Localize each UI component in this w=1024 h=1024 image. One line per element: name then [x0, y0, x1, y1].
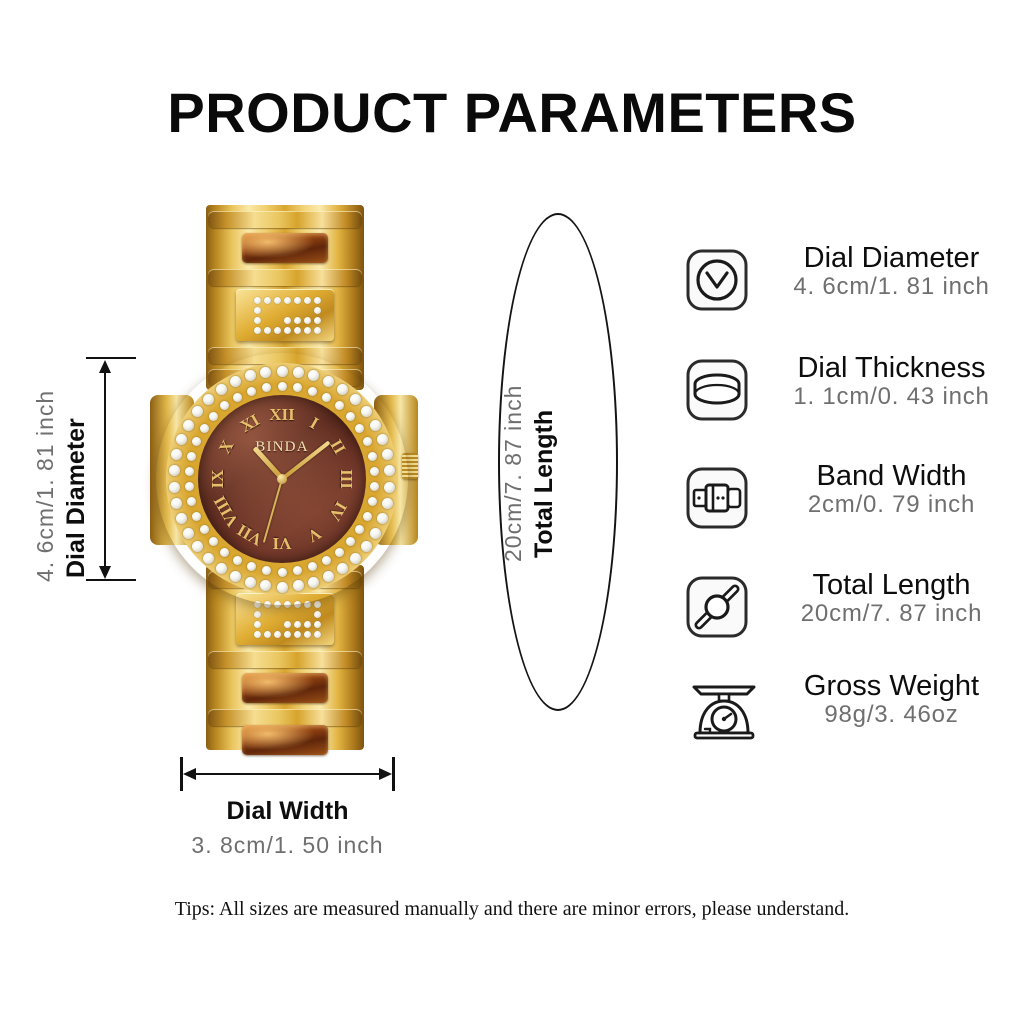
dim-dial-diameter-value: 4. 6cm/1. 81 inch: [32, 390, 59, 582]
bracelet-crystal: [304, 327, 311, 334]
bezel-crystal: [370, 420, 381, 431]
dial-roman-numeral: I: [306, 413, 322, 434]
bezel-crystal: [323, 571, 334, 582]
bezel-crystal: [323, 376, 334, 387]
dim-arrow-down: [99, 566, 111, 579]
bracelet-link: [208, 651, 362, 668]
bezel-crystal: [200, 525, 209, 534]
bezel-crystal: [203, 394, 214, 405]
bracelet-crystal: [254, 297, 261, 304]
bezel-crystal: [308, 562, 317, 571]
bezel-crystal: [169, 482, 180, 493]
bezel-crystal: [382, 498, 393, 509]
bracelet-crystal: [284, 327, 291, 334]
bezel-crystal: [233, 393, 242, 402]
bracelet-crystal: [274, 297, 281, 304]
bezel-crystal: [361, 541, 372, 552]
spec-value: 2cm/0. 79 inch: [764, 491, 1019, 520]
spec-value: 1. 1cm/0. 43 inch: [764, 383, 1019, 412]
bezel-crystal: [363, 512, 372, 521]
footer-tip-text: Tips: All sizes are measured manually an…: [0, 898, 1024, 921]
hand-center-cap: [277, 474, 287, 484]
bezel-crystal: [209, 537, 218, 546]
bracelet-crystal: [254, 621, 261, 628]
bracelet-resin-insert: [242, 725, 328, 755]
bracelet-crystal: [314, 611, 321, 618]
bezel-crystal: [192, 512, 201, 521]
watch-band-icon: [684, 465, 750, 531]
bezel-crystal: [350, 394, 361, 405]
dial-roman-numeral: VII: [234, 519, 266, 549]
dim-arrow-left: [183, 768, 196, 780]
bezel-crystal: [209, 412, 218, 421]
bezel-crystal: [355, 424, 364, 433]
dial-roman-numeral: VIII: [210, 492, 243, 530]
dim-dial-diameter-label: Dial Diameter: [62, 418, 91, 578]
dial-roman-numeral: IV: [324, 498, 351, 524]
bezel-crystal: [245, 577, 256, 588]
bezel-crystal: [233, 556, 242, 565]
bezel-crystal: [368, 497, 377, 506]
bezel-crystal: [230, 376, 241, 387]
spec-label: Dial Diameter: [764, 243, 1019, 273]
bezel-crystal: [370, 482, 379, 491]
bracelet-crystal: [304, 621, 311, 628]
bracelet-crystal: [294, 317, 301, 324]
bracelet-crystal: [284, 317, 291, 324]
bracelet-crystal: [254, 327, 261, 334]
dim-line: [104, 362, 106, 576]
bracelet-crystal: [314, 327, 321, 334]
spec-value: 20cm/7. 87 inch: [764, 600, 1019, 629]
dim-cap-right: [392, 757, 395, 791]
spec-label: Band Width: [764, 461, 1019, 491]
bracelet-crystal: [314, 307, 321, 314]
bracelet-crystal: [304, 631, 311, 638]
product-photo-watch: BINDA XIIIIIIIIIVVVIVIIVIIIIXXXI: [150, 205, 420, 750]
bracelet-link: [208, 709, 362, 726]
dim-cap-bottom: [86, 579, 136, 581]
bezel-crystal: [308, 387, 317, 396]
bezel-crystal: [377, 513, 388, 524]
bezel-crystal: [308, 577, 319, 588]
bezel-crystal: [247, 562, 256, 571]
bezel-crystal: [355, 525, 364, 534]
dim-dial-width-label: Dial Width: [180, 797, 395, 826]
bezel-crystal: [260, 367, 271, 378]
bracelet-crystal: [254, 631, 261, 638]
bracelet-crystal: [294, 631, 301, 638]
bezel-crystal: [335, 401, 344, 410]
dial-roman-numeral: III: [336, 469, 356, 489]
bezel-crystal: [203, 553, 214, 564]
dim-line: [185, 773, 390, 775]
bezel-crystal: [384, 482, 395, 493]
bezel-crystal: [368, 452, 377, 461]
bezel-crystal: [260, 580, 271, 591]
bracelet-crystal: [284, 297, 291, 304]
bracelet-crystal: [274, 631, 281, 638]
bracelet-link: [208, 211, 362, 228]
bezel-crystal: [192, 406, 203, 417]
bezel-crystal: [335, 548, 344, 557]
bracelet-crystal: [294, 327, 301, 334]
bezel-crystal: [220, 401, 229, 410]
bracelet-crystal: [254, 307, 261, 314]
spec-label: Total Length: [764, 570, 1019, 600]
spec-row-total-length: Total Length 20cm/7. 87 inch: [684, 570, 1019, 666]
bezel-crystal: [377, 434, 388, 445]
bezel-crystal: [192, 541, 203, 552]
bezel-crystal: [346, 412, 355, 421]
bracelet-crystal: [274, 327, 281, 334]
dial-roman-numeral: V: [304, 523, 325, 546]
dim-total-length-value: 20cm/7. 87 inch: [500, 385, 527, 562]
dial-roman-numeral: XI: [237, 410, 263, 437]
bezel-crystal: [370, 528, 381, 539]
bezel-crystal: [169, 465, 180, 476]
bracelet-crystal: [254, 317, 261, 324]
bezel-crystal: [183, 528, 194, 539]
bracelet-crystal: [314, 297, 321, 304]
bezel-crystal: [293, 580, 304, 591]
bezel-crystal: [185, 482, 194, 491]
spec-value: 98g/3. 46oz: [764, 701, 1019, 730]
spec-label: Gross Weight: [764, 671, 1019, 701]
spec-label: Dial Thickness: [764, 353, 1019, 383]
bezel-crystal: [220, 548, 229, 557]
bracelet-resin-insert: [242, 673, 328, 703]
bezel-crystal: [361, 406, 372, 417]
bezel-crystal: [278, 382, 287, 391]
bracelet-crystal: [254, 611, 261, 618]
spec-value: 4. 6cm/1. 81 inch: [764, 273, 1019, 302]
dim-cap-top: [86, 357, 136, 359]
bracelet-crystal: [314, 317, 321, 324]
dim-total-length-label: Total Length: [530, 410, 559, 558]
bezel-crystal: [187, 452, 196, 461]
bezel-crystal: [216, 384, 227, 395]
bracelet-crystal: [264, 631, 271, 638]
watch-dial: BINDA XIIIIIIIIIVVVIVIIVIIIIXXXI: [198, 395, 366, 563]
page-title: PRODUCT PARAMETERS: [0, 80, 1024, 145]
weighing-scale-icon: [686, 671, 762, 747]
bezel-crystal: [247, 387, 256, 396]
bezel-crystal: [337, 563, 348, 574]
bezel-crystal: [171, 449, 182, 460]
bezel-crystal: [322, 556, 331, 565]
bracelet-crystal: [304, 297, 311, 304]
dial-roman-numeral: XII: [269, 405, 295, 425]
bezel-crystal: [293, 383, 302, 392]
bracelet-crystal: [294, 297, 301, 304]
bezel-crystal: [278, 568, 287, 577]
bezel-crystal: [200, 424, 209, 433]
dim-dial-width-value: 3. 8cm/1. 50 inch: [160, 832, 415, 859]
bracelet-crystal: [294, 621, 301, 628]
bezel-crystal: [382, 449, 393, 460]
spec-row-gross-weight: Gross Weight 98g/3. 46oz: [684, 671, 1019, 767]
bracelet-crystal: [284, 631, 291, 638]
bracelet-crystal: [314, 631, 321, 638]
bezel-crystal: [293, 566, 302, 575]
bracelet-crystal: [304, 317, 311, 324]
dim-arrow-right: [379, 768, 392, 780]
bezel-crystal: [176, 434, 187, 445]
bezel-crystal: [322, 393, 331, 402]
bezel-crystal: [370, 467, 379, 476]
bezel-crystal: [262, 383, 271, 392]
bracelet-crystal: [314, 601, 321, 608]
clock-icon: [684, 247, 750, 313]
bezel-crystal: [262, 566, 271, 575]
bezel-crystal: [346, 537, 355, 546]
dial-roman-numeral: IX: [208, 470, 228, 489]
bezel-crystal: [185, 467, 194, 476]
bracelet-resin-insert: [242, 233, 328, 263]
spec-row-band-width: Band Width 2cm/0. 79 inch: [684, 461, 1019, 557]
bezel-crystal: [230, 571, 241, 582]
spec-row-dial-diameter: Dial Diameter 4. 6cm/1. 81 inch: [684, 243, 1019, 339]
dial-roman-numeral: VI: [273, 533, 292, 553]
disc-thickness-icon: [684, 357, 750, 423]
bracelet-crystal: [314, 621, 321, 628]
bezel-crystal: [384, 465, 395, 476]
bracelet-crystal: [264, 327, 271, 334]
bracelet-crystal: [264, 297, 271, 304]
bezel-crystal: [245, 370, 256, 381]
bracelet-link: [208, 269, 362, 286]
bezel-crystal: [337, 384, 348, 395]
bezel-crystal: [216, 563, 227, 574]
watch-strap-icon: [684, 574, 750, 640]
bezel-crystal: [183, 420, 194, 431]
dim-arrow-up: [99, 360, 111, 373]
bezel-crystal: [277, 582, 288, 593]
bracelet-crystal-plate: [236, 289, 334, 341]
bezel-crystal: [171, 498, 182, 509]
bezel-crystal: [176, 513, 187, 524]
bracelet-crystal: [284, 621, 291, 628]
bezel-crystal: [308, 370, 319, 381]
spec-row-dial-thickness: Dial Thickness 1. 1cm/0. 43 inch: [684, 353, 1019, 449]
bezel-crystal: [277, 366, 288, 377]
bezel-crystal: [187, 497, 196, 506]
bezel-crystal: [293, 367, 304, 378]
bezel-crystal: [350, 553, 361, 564]
